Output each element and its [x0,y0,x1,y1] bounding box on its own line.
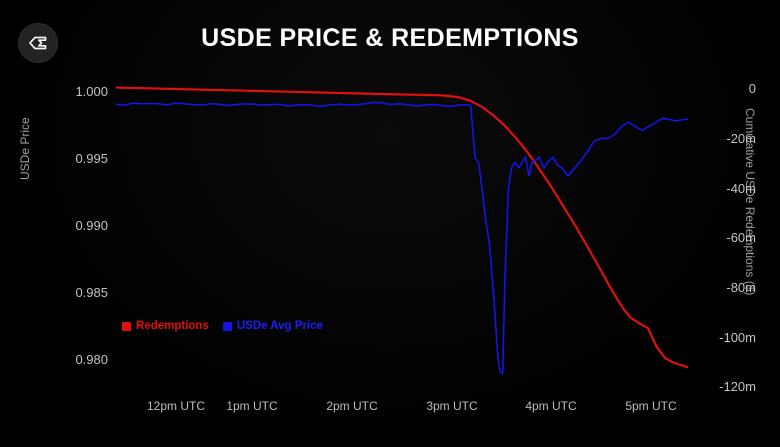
x-tick-4: 4pm UTC [525,399,576,413]
y-right-tick-5: -100m [694,330,756,345]
y-right-tick-4: -80m [694,280,756,295]
x-tick-5: 5pm UTC [625,399,676,413]
legend-swatch-usde-avg-price [223,322,232,331]
y-left-tick-3: 0.985 [48,285,108,300]
y-right-tick-2: -40m [694,181,756,196]
x-tick-2: 2pm UTC [326,399,377,413]
y-left-tick-0: 1.000 [48,84,108,99]
chart-legend: Redemptions USDe Avg Price [122,320,323,332]
legend-swatch-redemptions [122,322,131,331]
y-right-tick-3: -60m [694,230,756,245]
series-line-usde-avg-price [116,102,688,372]
legend-label-redemptions: Redemptions [136,320,209,332]
x-tick-0: 12pm UTC [147,399,205,413]
legend-label-usde-avg-price: USDe Avg Price [237,320,323,332]
page-title: USDE PRICE & REDEMPTIONS [0,24,780,53]
x-tick-1: 1pm UTC [226,399,277,413]
y-left-tick-4: 0.980 [48,352,108,367]
legend-item-usde-avg-price[interactable]: USDe Avg Price [223,320,323,332]
y-right-tick-1: -20m [694,131,756,146]
chart-canvas [116,82,688,387]
y-left-tick-1: 0.995 [48,151,108,166]
legend-item-redemptions[interactable]: Redemptions [122,320,209,332]
y-left-tick-2: 0.990 [48,218,108,233]
chart-page: USDE PRICE & REDEMPTIONS USDe Price Cumu… [0,0,780,447]
y-right-tick-0: 0 [694,81,756,96]
y-right-tick-6: -120m [694,379,756,394]
x-tick-3: 3pm UTC [426,399,477,413]
plot-area [116,82,688,387]
y-axis-left-title: USDe Price [18,117,32,180]
